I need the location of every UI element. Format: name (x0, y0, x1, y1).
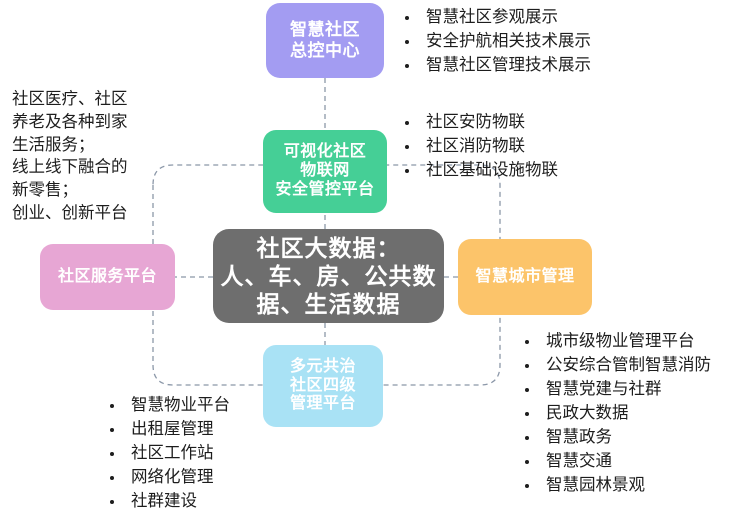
list-item: 智慧园林景观 (520, 474, 711, 498)
list-item: 出租屋管理 (105, 418, 230, 442)
list-item: 安全护航相关技术展示 (400, 30, 591, 54)
node-control-center[interactable]: 智慧社区 总控中心 (266, 3, 384, 78)
annotation-iot-platform-list: 社区安防物联社区消防物联社区基础设施物联 (400, 111, 558, 183)
diagram-canvas: 智慧社区 总控中心 可视化社区 物联网 安全管控平台 社区大数据： 人、车、房、… (0, 0, 740, 512)
node-city-management-label: 智慧城市管理 (475, 268, 574, 287)
node-governance-platform-label: 多元共治 社区四级 管理平台 (290, 358, 356, 415)
list-item: 智慧社区参观展示 (400, 6, 591, 30)
list-item: 社区安防物联 (400, 111, 558, 135)
node-center-hub-label: 社区大数据： 人、车、房、公共数 据、生活数据 (221, 234, 437, 318)
list-item: 城市级物业管理平台 (520, 330, 711, 354)
list-item: 智慧政务 (520, 426, 711, 450)
list-item: 民政大数据 (520, 402, 711, 426)
list-item: 社区消防物联 (400, 135, 558, 159)
node-service-platform[interactable]: 社区服务平台 (40, 244, 175, 310)
annotation-city-management: 城市级物业管理平台公安综合管制智慧消防智慧党建与社群民政大数据智慧政务智慧交通智… (520, 330, 711, 497)
node-city-management[interactable]: 智慧城市管理 (458, 239, 592, 315)
node-center-hub[interactable]: 社区大数据： 人、车、房、公共数 据、生活数据 (213, 229, 444, 323)
annotation-governance-platform: 智慧物业平台出租屋管理社区工作站网络化管理社群建设 (105, 394, 230, 514)
node-iot-platform[interactable]: 可视化社区 物联网 安全管控平台 (263, 130, 387, 213)
list-item: 智慧物业平台 (105, 394, 230, 418)
node-service-platform-label: 社区服务平台 (58, 268, 157, 287)
list-item: 网络化管理 (105, 466, 230, 490)
annotation-iot-platform: 社区安防物联社区消防物联社区基础设施物联 (400, 111, 558, 183)
node-governance-platform[interactable]: 多元共治 社区四级 管理平台 (263, 345, 383, 427)
annotation-service-platform: 社区医疗、社区 养老及各种到家 生活服务； 线上线下融合的 新零售； 创业、创新… (12, 88, 187, 225)
node-control-center-label: 智慧社区 总控中心 (290, 20, 360, 60)
list-item: 智慧社区管理技术展示 (400, 54, 591, 78)
node-iot-platform-label: 可视化社区 物联网 安全管控平台 (275, 143, 374, 200)
list-item: 社群建设 (105, 490, 230, 514)
list-item: 公安综合管制智慧消防 (520, 354, 711, 378)
annotation-governance-platform-list: 智慧物业平台出租屋管理社区工作站网络化管理社群建设 (105, 394, 230, 514)
list-item: 社区工作站 (105, 442, 230, 466)
list-item: 社区基础设施物联 (400, 159, 558, 183)
list-item: 智慧党建与社群 (520, 378, 711, 402)
list-item: 智慧交通 (520, 450, 711, 474)
annotation-control-center-list: 智慧社区参观展示安全护航相关技术展示智慧社区管理技术展示 (400, 6, 591, 78)
annotation-city-management-list: 城市级物业管理平台公安综合管制智慧消防智慧党建与社群民政大数据智慧政务智慧交通智… (520, 330, 711, 497)
annotation-control-center: 智慧社区参观展示安全护航相关技术展示智慧社区管理技术展示 (400, 6, 591, 78)
